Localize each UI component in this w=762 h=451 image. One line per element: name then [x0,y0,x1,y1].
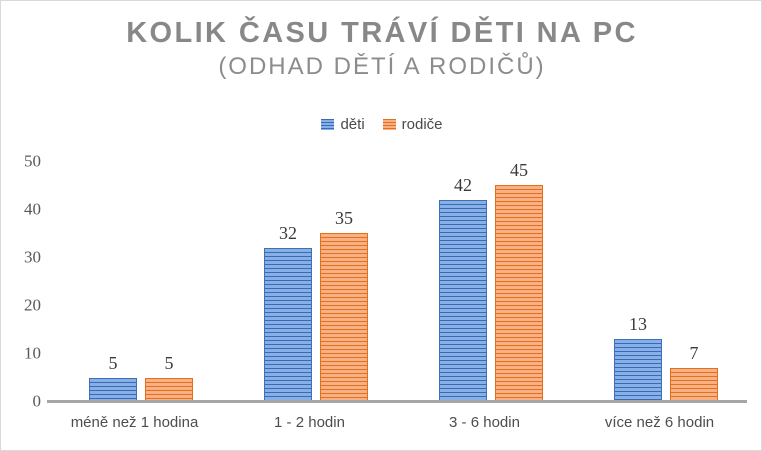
bar-deti-0[interactable] [89,378,137,402]
x-category-2: 3 - 6 hodin [397,413,572,433]
legend-label-rodice: rodiče [402,117,443,132]
y-tick-10: 10 [1,345,41,362]
x-axis: méně než 1 hodina 1 - 2 hodin 3 - 6 hodi… [47,413,747,443]
bar-label-deti-2: 42 [439,176,487,194]
x-category-3: více než 6 hodin [572,413,747,433]
legend-swatch-icon-deti [321,119,334,130]
bar-label-rodice-3: 7 [670,344,718,362]
bar-deti-1[interactable] [264,248,312,402]
y-tick-30: 30 [1,249,41,266]
bar-label-deti-0: 5 [89,354,137,372]
chart-container: KOLIK ČASU TRÁVÍ DĚTI NA PC (ODHAD DĚTÍ … [0,0,762,451]
bar-label-rodice-2: 45 [495,161,543,179]
chart-legend: děti rodiče [1,117,762,132]
x-category-0: méně než 1 hodina [47,413,222,433]
bar-label-rodice-0: 5 [145,354,193,372]
bar-rodice-2[interactable] [495,185,543,402]
y-tick-40: 40 [1,201,41,218]
bar-label-deti-3: 13 [614,315,662,333]
y-tick-50: 50 [1,153,41,170]
bar-label-rodice-1: 35 [320,209,368,227]
y-axis: 50 40 30 20 10 0 [1,161,41,402]
legend-swatch-icon-rodice [383,119,396,130]
bar-rodice-1[interactable] [320,233,368,402]
legend-item-rodice[interactable]: rodiče [383,117,443,132]
bar-deti-3[interactable] [614,339,662,402]
bar-label-deti-1: 32 [264,224,312,242]
x-axis-baseline [47,400,747,403]
y-tick-0: 0 [1,393,41,410]
bar-rodice-3[interactable] [670,368,718,402]
plot-area: 5 5 32 35 42 45 13 7 [47,161,747,402]
legend-label-deti: děti [340,117,364,132]
chart-title-block: KOLIK ČASU TRÁVÍ DĚTI NA PC (ODHAD DĚTÍ … [1,15,762,83]
legend-item-deti[interactable]: děti [321,117,364,132]
chart-title: KOLIK ČASU TRÁVÍ DĚTI NA PC [1,15,762,51]
bar-rodice-0[interactable] [145,378,193,402]
chart-subtitle: (ODHAD DĚTÍ A RODIČŮ) [1,51,762,83]
x-category-1: 1 - 2 hodin [222,413,397,433]
y-tick-20: 20 [1,297,41,314]
bar-deti-2[interactable] [439,200,487,402]
